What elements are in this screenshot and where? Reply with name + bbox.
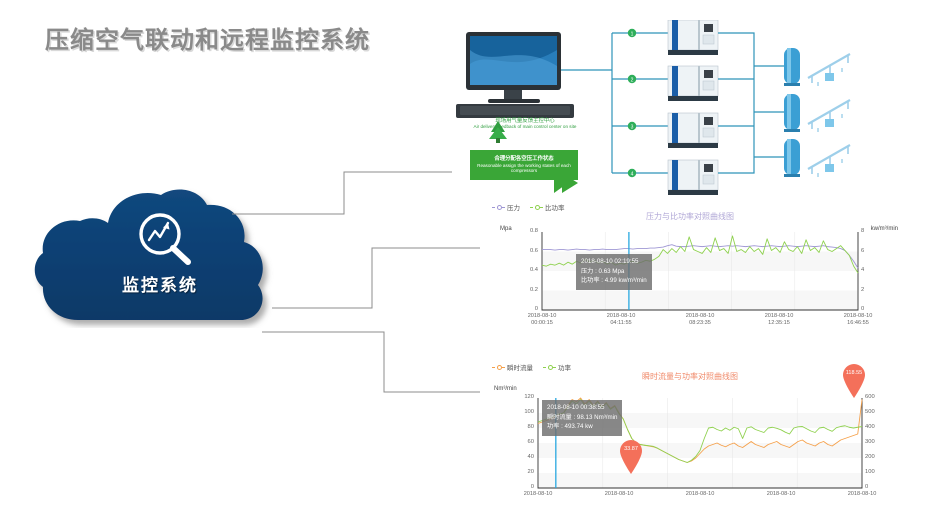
y-tick-label: 100	[865, 469, 889, 475]
y-tick-label: 0.8	[514, 228, 538, 234]
compressor-unit	[668, 160, 718, 195]
svg-text:3: 3	[631, 124, 634, 130]
y-tick-label: 400	[865, 424, 889, 430]
slide-root: 压缩空气联动和远程监控系统 监控系统	[0, 0, 945, 529]
x-tick-label: 2018-08-1004:11:55	[595, 313, 647, 327]
monitoring-cloud[interactable]: 监控系统	[30, 183, 290, 328]
x-tick-label: 2018-08-1012:35:15	[753, 313, 805, 327]
compressor-unit	[668, 113, 718, 148]
tooltip-line-2: 功率 : 493.74 kw	[547, 422, 617, 432]
data-pin-marker[interactable]: 33.87	[619, 440, 643, 474]
tooltip-line-2: 比功率 : 4.99 kw/m³/min	[581, 276, 647, 286]
cloud-label: 监控系统	[30, 271, 290, 296]
air-tank-and-piping	[784, 139, 850, 177]
y-tick-label: 300	[865, 439, 889, 445]
flow-power-chart[interactable]: 瞬时流量 功率 瞬时流量与功率对照曲线图 Nm³/min 33.87 118.5…	[480, 362, 900, 512]
compressor-unit	[668, 66, 718, 101]
y-tick-label: 500	[865, 409, 889, 415]
y-tick-label: 0	[510, 484, 534, 490]
svg-text:2: 2	[631, 77, 634, 83]
x-tick-label: 2018-08-1016:46:55	[832, 313, 884, 327]
y-tick-label: 200	[865, 454, 889, 460]
y-tick-label: 60	[510, 439, 534, 445]
site-feedback-label-en: Air delivery feedback of main control ce…	[455, 124, 595, 129]
x-tick-label: 2018-08-1008:23:35	[674, 313, 726, 327]
data-pin-value: 118.55	[842, 370, 866, 376]
site-feedback-label: 现场用气量反馈主控中心 Air delivery feedback of mai…	[455, 118, 595, 129]
y-tick-label: 4	[861, 267, 885, 273]
y-tick-label: 2	[861, 287, 885, 293]
assign-status-label-en: Reasonable assign the working states of …	[470, 163, 578, 174]
status-nodes: 1 2 3 4	[628, 29, 636, 178]
chart-2-plot	[480, 362, 900, 512]
svg-text:1: 1	[631, 31, 634, 37]
tooltip-timestamp: 2018-08-10 02:19:55	[581, 257, 647, 267]
x-tick-label: 2018-08-10	[836, 491, 888, 498]
assign-status-box: 合理分配各空压工作状态 Reasonable assign the workin…	[470, 150, 578, 180]
data-pin-marker[interactable]: 118.55	[842, 364, 866, 398]
y-tick-label: 0	[514, 306, 538, 312]
data-pin-value: 33.87	[619, 446, 643, 452]
y-tick-label: 0.6	[514, 248, 538, 254]
pressure-specific-power-chart[interactable]: 压力 比功率 压力与比功率对照曲线图 Mpa kw/m³/min 2018-08…	[480, 202, 900, 332]
x-tick-label: 2018-08-10	[512, 491, 564, 498]
tooltip-timestamp: 2018-08-10 00:38:55	[547, 403, 617, 413]
y-tick-label: 40	[510, 454, 534, 460]
tooltip-line-1: 压力 : 0.63 Mpa	[581, 267, 647, 277]
chart-2-tooltip: 2018-08-10 00:38:55 瞬时流量 : 98.13 Nm³/min…	[542, 400, 622, 436]
y-tick-label: 80	[510, 424, 534, 430]
y-tick-label: 100	[510, 409, 534, 415]
air-tank-and-piping	[784, 48, 850, 86]
page-title: 压缩空气联动和远程监控系统	[45, 20, 370, 55]
y-tick-label: 8	[861, 228, 885, 234]
tooltip-line-1: 瞬时流量 : 98.13 Nm³/min	[547, 413, 617, 423]
y-tick-label: 6	[861, 248, 885, 254]
x-tick-label: 2018-08-10	[674, 491, 726, 498]
y-tick-label: 20	[510, 469, 534, 475]
air-tank-and-piping	[784, 94, 850, 132]
desktop-computer-icon	[456, 32, 574, 118]
compressor-unit	[668, 20, 718, 55]
chart-1-tooltip: 2018-08-10 02:19:55 压力 : 0.63 Mpa 比功率 : …	[576, 254, 652, 290]
x-tick-label: 2018-08-10	[593, 491, 645, 498]
x-tick-label: 2018-08-1000:00:15	[516, 313, 568, 327]
x-tick-label: 2018-08-10	[755, 491, 807, 498]
y-tick-label: 120	[510, 394, 534, 400]
y-tick-label: 600	[865, 394, 889, 400]
magnifier-chart-icon	[134, 210, 196, 268]
y-tick-label: 0	[865, 484, 889, 490]
y-tick-label: 0	[861, 306, 885, 312]
y-tick-label: 0.4	[514, 267, 538, 273]
y-tick-label: 0.2	[514, 287, 538, 293]
svg-text:4: 4	[631, 171, 634, 177]
